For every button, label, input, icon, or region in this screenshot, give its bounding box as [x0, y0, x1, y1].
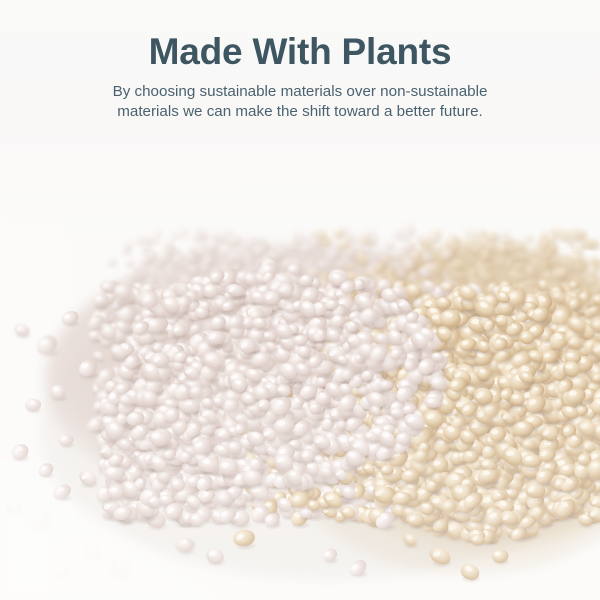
hero-subtitle: By choosing sustainable materials over n…: [69, 82, 531, 121]
page-title: Made With Plants: [0, 0, 600, 74]
product-sustainability-banner: Made With Plants By choosing sustainable…: [0, 0, 600, 600]
hero-subtitle-line-2: materials we can make the shift toward a…: [69, 102, 531, 122]
hero-section: Made With Plants By choosing sustainable…: [0, 0, 600, 220]
hero-subtitle-line-1: By choosing sustainable materials over n…: [69, 82, 531, 102]
